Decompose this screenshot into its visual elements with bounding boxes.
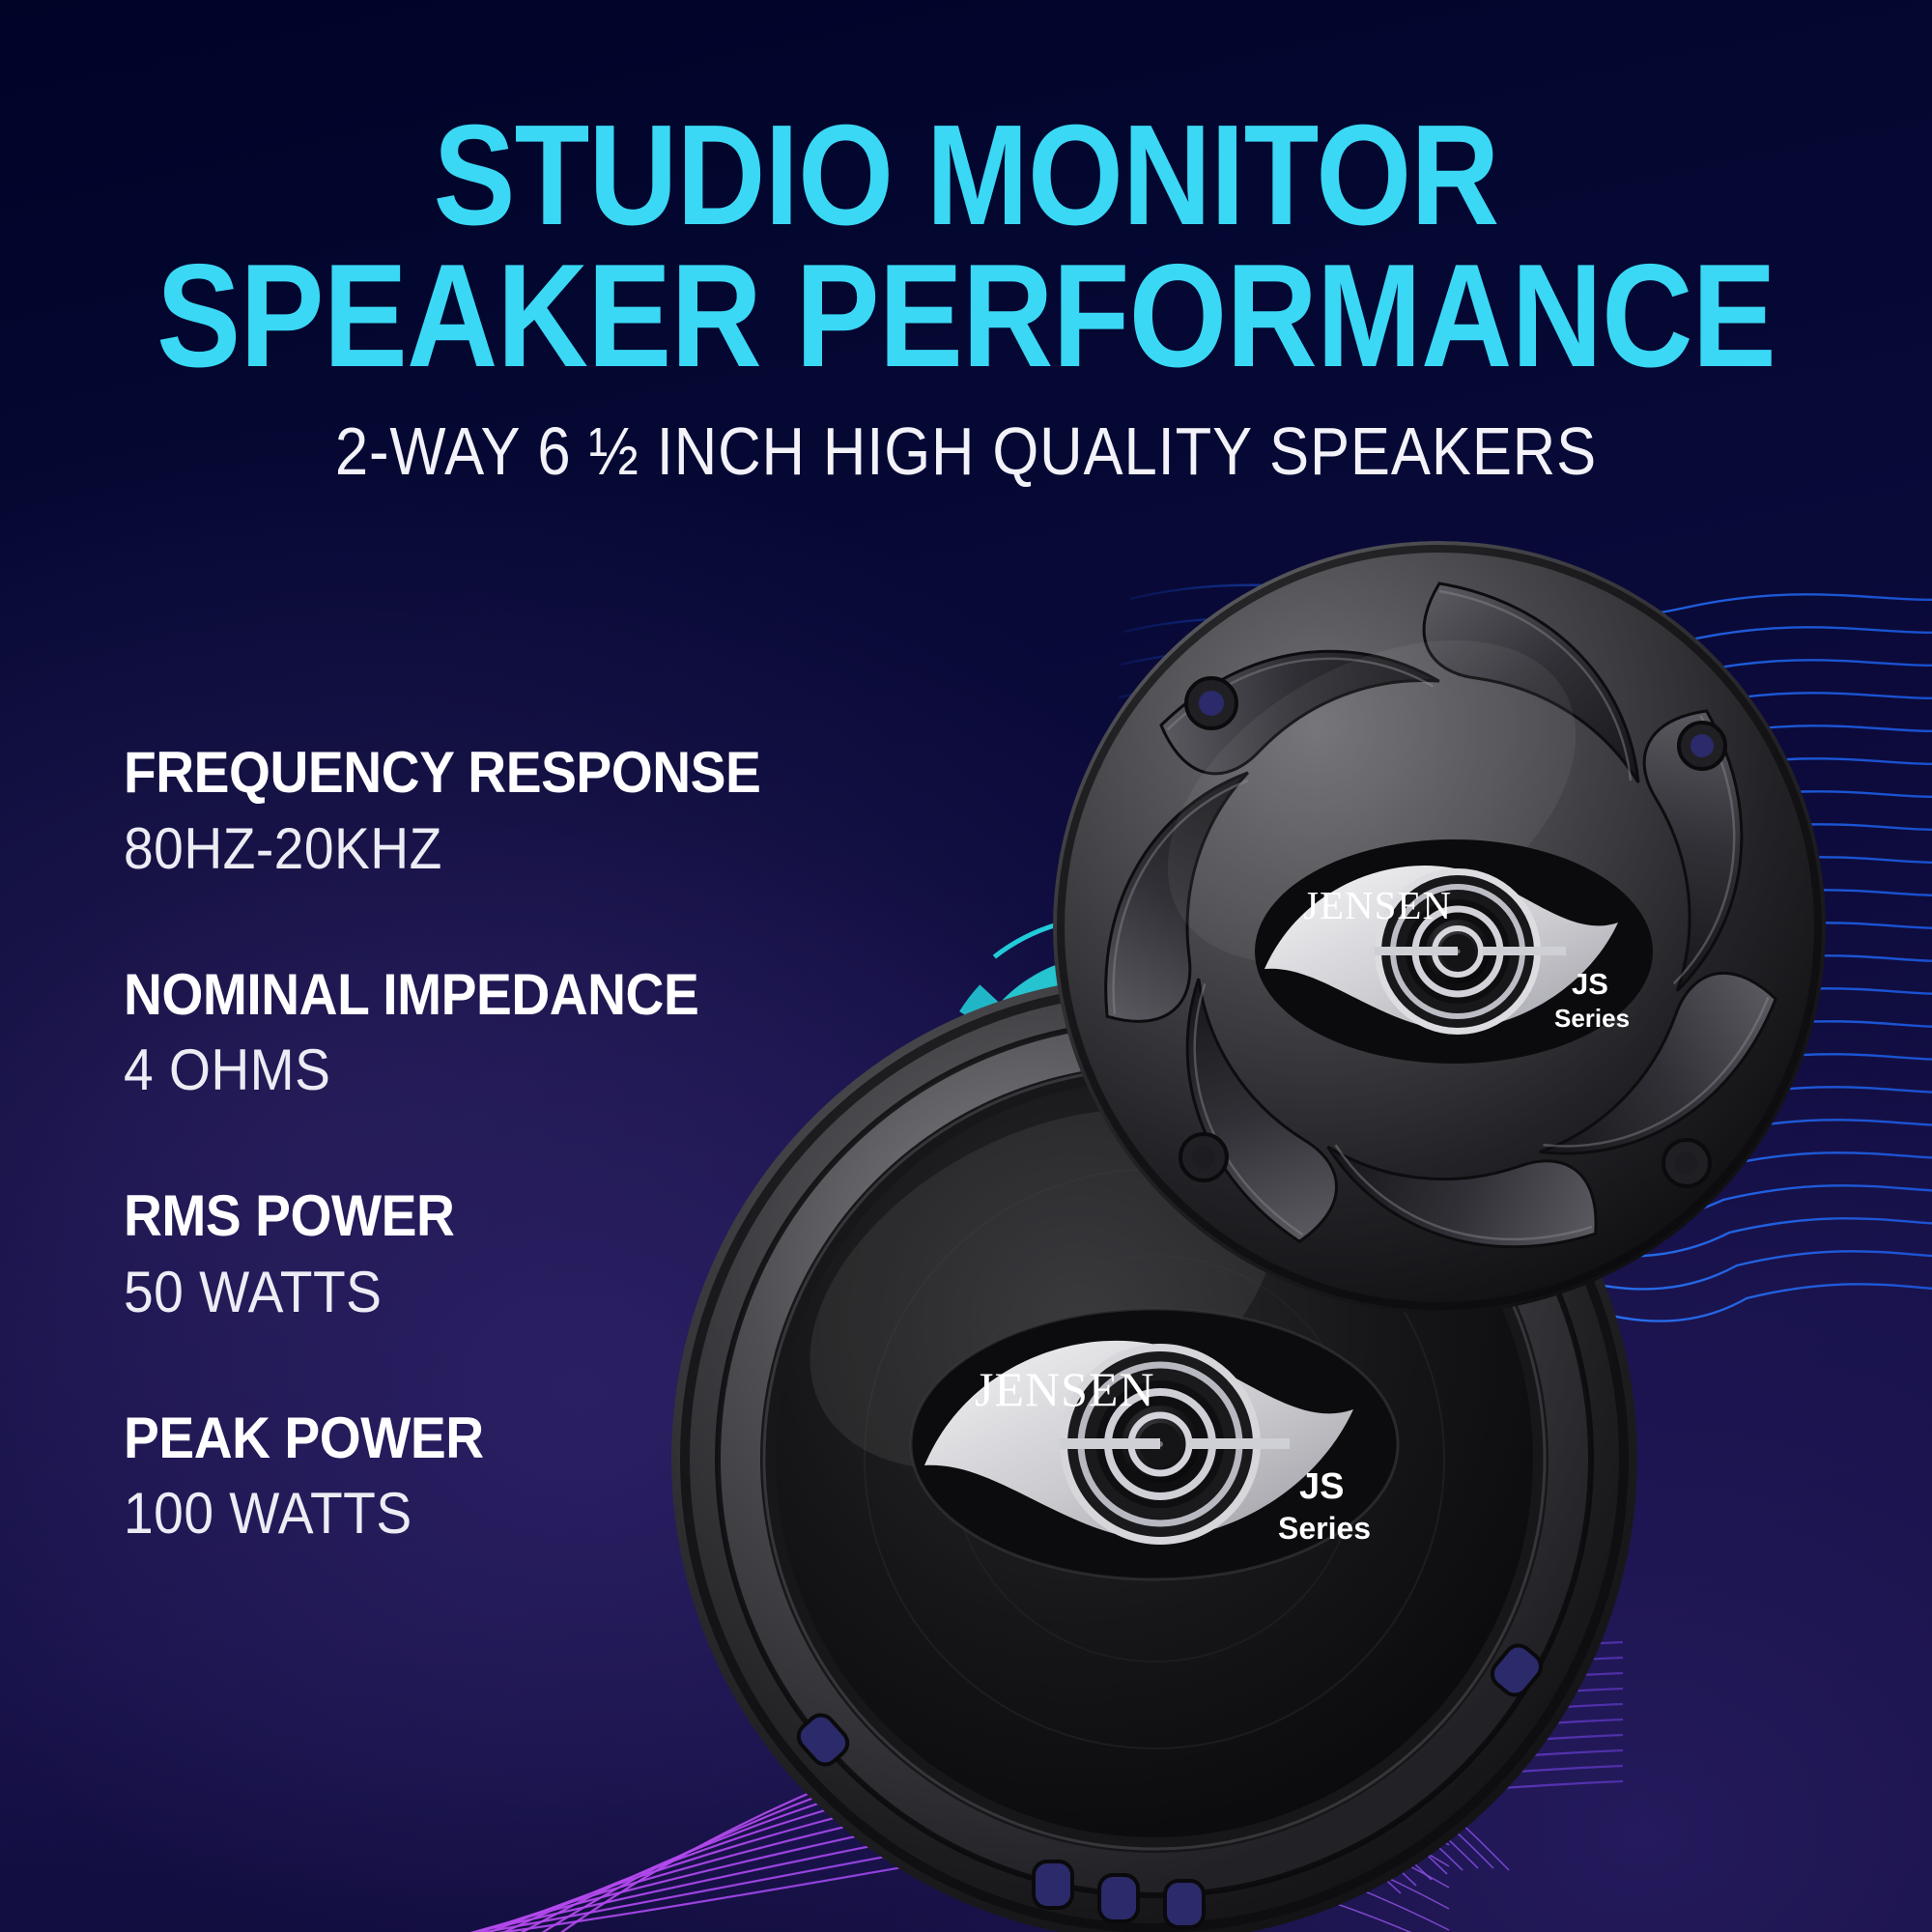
page-title-line1: STUDIO MONITOR [135,106,1797,245]
series-label-line1: JS [1299,1466,1344,1507]
spec-value: 80HZ-20KHZ [124,817,852,881]
page-title-line2: SPEAKER PERFORMANCE [135,245,1797,387]
spec-item-frequency-response: FREQUENCY RESPONSE 80HZ-20KHZ [124,742,916,881]
speaker-top-image: JENSEN JS Series [1048,536,1831,1319]
brand-label: JENSEN [1303,883,1452,927]
series-label-line2: Series [1278,1511,1371,1546]
series-label-line1: JS [1572,967,1608,1001]
page-subtitle: 2-WAY 6 ½ INCH HIGH QUALITY SPEAKERS [116,412,1816,490]
header: STUDIO MONITOR SPEAKER PERFORMANCE 2-WAY… [0,106,1932,490]
series-label-line2: Series [1554,1004,1630,1033]
brand-label: JENSEN [975,1362,1155,1416]
product-infographic: STUDIO MONITOR SPEAKER PERFORMANCE 2-WAY… [0,0,1932,1932]
spec-label: FREQUENCY RESPONSE [124,742,852,804]
